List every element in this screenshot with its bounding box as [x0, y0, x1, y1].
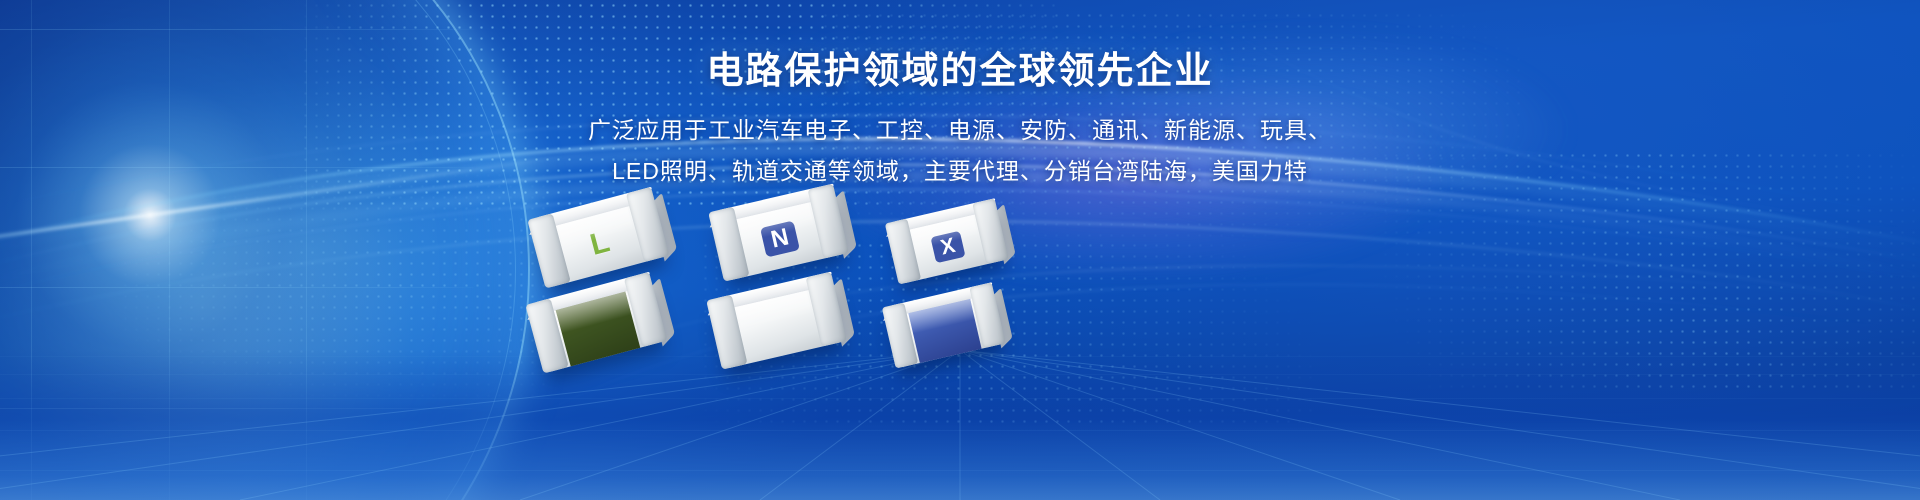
fuse-marking-text: N	[760, 221, 800, 258]
fuse-marking-text: X	[930, 231, 965, 263]
banner-subtitle-line-2: LED照明、轨道交通等领域，主要代理、分销台湾陆海，美国力特	[0, 151, 1920, 192]
fuse-marking-text: L	[587, 227, 612, 261]
hero-banner: L N X	[0, 0, 1920, 500]
product-smd-fuse-blue-panel	[888, 294, 1002, 367]
product-smd-fuse-plain-white	[713, 285, 843, 369]
product-smd-fuse-marked-x: X	[891, 210, 1005, 283]
product-smd-fuse-marked-n: N	[715, 197, 845, 281]
banner-subtitle-line-1: 广泛应用于工业汽车电子、工控、电源、安防、通讯、新能源、玩具、	[0, 110, 1920, 151]
product-smd-fuse-green-panel	[533, 285, 664, 372]
banner-copy-block: 电路保护领域的全球领先企业 广泛应用于工业汽车电子、工控、电源、安防、通讯、新能…	[0, 0, 1920, 192]
banner-title: 电路保护领域的全球领先企业	[0, 40, 1920, 94]
